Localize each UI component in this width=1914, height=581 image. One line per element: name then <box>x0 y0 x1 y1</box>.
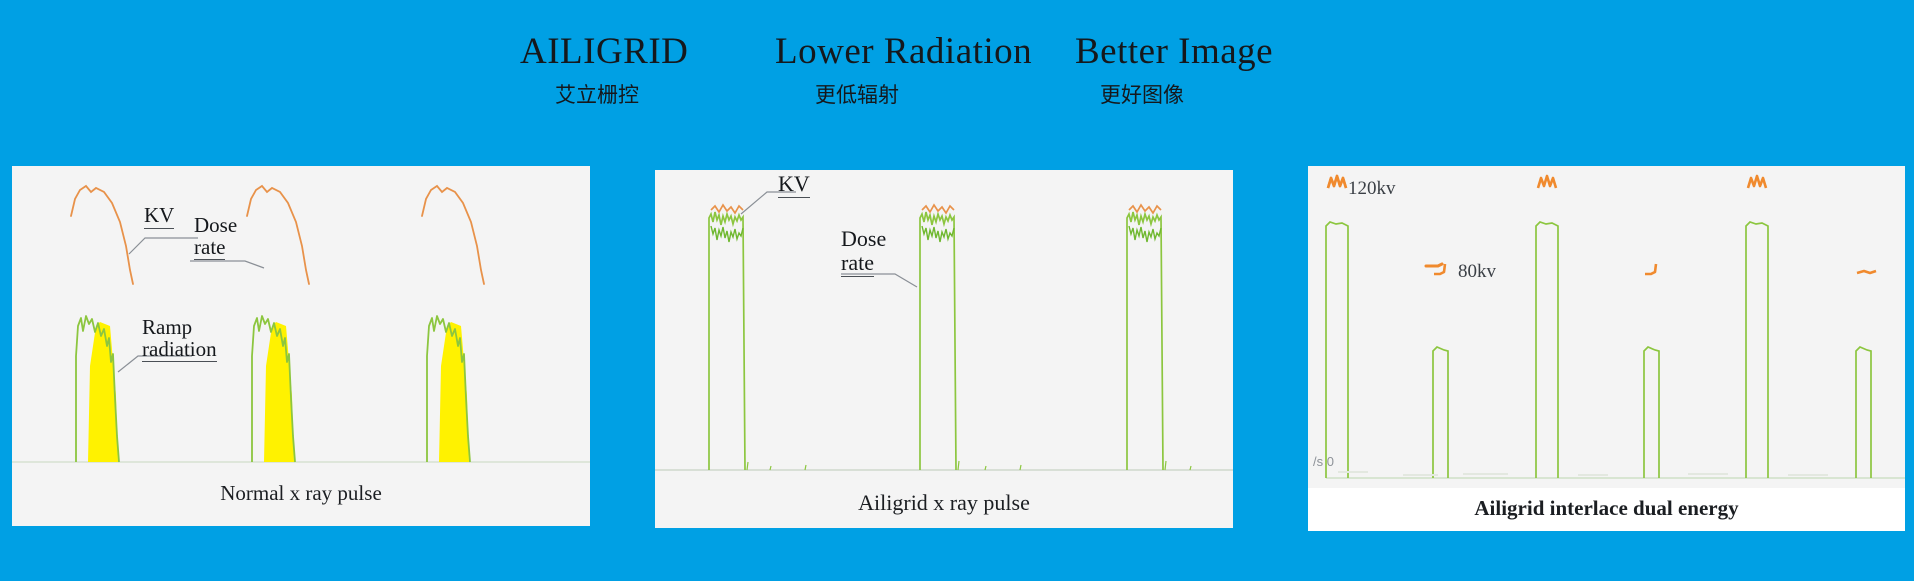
normal-pulse-waveform-svg <box>12 166 590 476</box>
plot-area-normal-pulse: KV Dose rate Ramp radiation <box>12 166 590 476</box>
caption-normal-pulse: Normal x ray pulse <box>12 481 590 506</box>
dose-rate-annotation-line2: rate <box>194 236 225 260</box>
dose-rate-leader-line <box>190 261 264 268</box>
kv-annotation-label: KV <box>144 203 174 229</box>
legend-80kv-swatch-icon <box>1426 264 1442 266</box>
ramp-radiation-fill-1 <box>88 322 118 462</box>
interlace-dual-energy-waveform-svg <box>1308 166 1905 488</box>
kv-curve-3 <box>422 186 484 284</box>
headline-better-image: Better Image <box>1075 30 1273 74</box>
kv-curve-2 <box>247 186 309 284</box>
ramp-radiation-annotation-label: Ramp radiation <box>142 316 217 362</box>
plot-area-interlace-dual-energy: 120kv 80kv /s 0 <box>1308 166 1905 488</box>
dose-rate-pulse-1 <box>709 212 745 470</box>
dose-rate-annotation-line1: Dose <box>841 227 886 251</box>
pulse-80kv-3 <box>1856 347 1871 478</box>
kv-annotation-label: KV <box>778 172 810 198</box>
headline-brand: AILIGRID <box>520 30 688 74</box>
chart-panel-interlace-dual-energy: 120kv 80kv /s 0 Ailigrid interlace dual … <box>1308 166 1905 531</box>
pulse-80kv-2 <box>1644 347 1659 478</box>
caption-interlace-dual-energy: Ailigrid interlace dual energy <box>1308 496 1905 521</box>
page-header: AILIGRID Lower Radiation Better Image 艾立… <box>0 0 1914 140</box>
ramp-radiation-annotation-line1: Ramp <box>142 316 217 338</box>
ailigrid-pulse-waveform-svg <box>655 170 1233 482</box>
ramp-radiation-annotation-line2: radiation <box>142 338 217 362</box>
ramp-radiation-fill-3 <box>439 322 469 462</box>
plot-area-ailigrid-pulse: KV Dose rate <box>655 170 1233 482</box>
ramp-radiation-fill-2 <box>264 322 294 462</box>
kv-marker-120-2-icon <box>1538 176 1556 188</box>
headline-row: AILIGRID Lower Radiation Better Image 艾立… <box>520 30 1420 82</box>
subtitle-lower-radiation-cn: 更低辐射 <box>815 82 899 108</box>
dose-rate-noise-1 <box>711 226 743 242</box>
dose-rate-annotation-label: Dose rate <box>841 227 886 277</box>
pulse-120kv-3 <box>1746 222 1768 478</box>
dose-rate-annotation-line1: Dose <box>194 214 237 236</box>
caption-ailigrid-pulse: Ailigrid x ray pulse <box>655 490 1233 516</box>
headline-lower-radiation: Lower Radiation <box>775 30 1032 74</box>
axis-label-fragment: /s 0 <box>1313 454 1334 469</box>
kv-leader-line <box>129 238 198 254</box>
dose-rate-annotation-label: Dose rate <box>194 214 237 260</box>
pulse-120kv-1 <box>1326 222 1348 478</box>
axis-residue <box>1338 472 1828 475</box>
dose-rate-pulse-2 <box>920 212 956 470</box>
subtitle-better-image-cn: 更好图像 <box>1100 82 1184 108</box>
kv-marker-80-2-icon <box>1645 264 1656 274</box>
kv-marker-120-3-icon <box>1748 176 1766 188</box>
baseline-ticks <box>747 461 1191 470</box>
subtitle-brand-cn: 艾立栅控 <box>555 82 639 108</box>
pulse-80kv-1 <box>1433 347 1448 478</box>
kv-marker-80-3-icon <box>1857 271 1876 273</box>
chart-panel-ailigrid-pulse: KV Dose rate Ailigrid x ray pulse <box>655 170 1233 528</box>
legend-80kv-label: 80kv <box>1458 261 1496 283</box>
kv-curve-1 <box>71 186 133 284</box>
dose-rate-pulse-3 <box>1127 212 1163 470</box>
legend-120kv-swatch-icon <box>1328 176 1346 188</box>
pulse-120kv-2 <box>1536 222 1558 478</box>
dose-rate-noise-3 <box>1129 226 1161 242</box>
legend-120kv-label: 120kv <box>1348 178 1396 200</box>
dose-rate-annotation-line2: rate <box>841 251 874 277</box>
chart-panel-normal-pulse: KV Dose rate Ramp radiation Normal x ray… <box>12 166 590 526</box>
dose-rate-noise-2 <box>922 226 954 242</box>
